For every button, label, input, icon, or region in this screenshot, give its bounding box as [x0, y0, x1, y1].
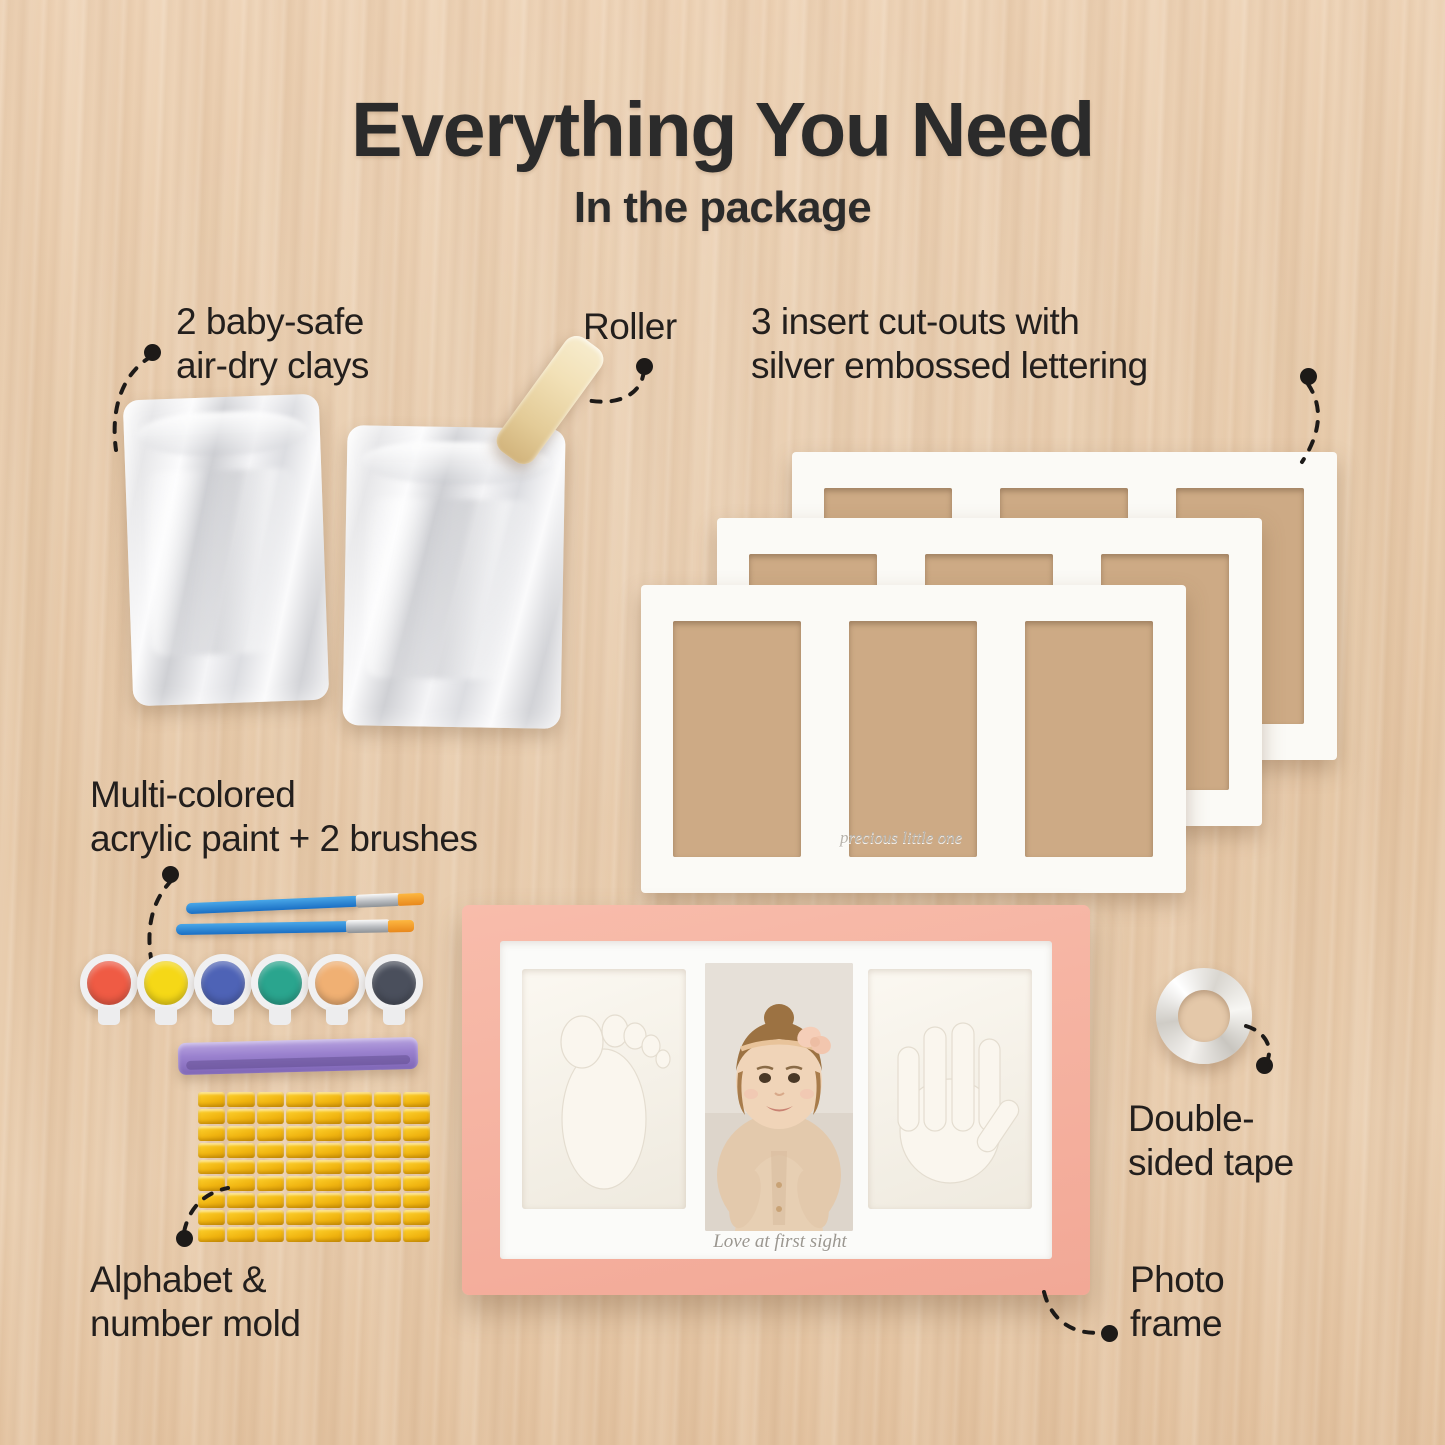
leader-dot-frame — [1101, 1325, 1118, 1342]
leader-dot-tape — [1256, 1057, 1273, 1074]
callout-paint: Multi-colored acrylic paint + 2 brushes — [90, 773, 478, 860]
baby-photo-illustration — [705, 963, 853, 1231]
page-title: Everything You Need — [0, 86, 1445, 175]
mold-press-stick — [178, 1037, 419, 1075]
paint-pot-blue — [194, 954, 252, 1012]
photo-frame: Love at first sight — [462, 905, 1090, 1295]
callout-frame: Photo frame — [1130, 1258, 1224, 1345]
page-subtitle: In the package — [0, 183, 1445, 233]
callout-mold: Alphabet & number mold — [90, 1258, 300, 1345]
double-sided-tape-roll — [1156, 968, 1252, 1064]
leader-dot-roller — [636, 358, 653, 375]
clay-pouch-2 — [342, 425, 565, 729]
paint-pot-yellow — [137, 954, 195, 1012]
callout-roller: Roller — [583, 305, 677, 349]
insert-window — [673, 621, 801, 857]
paint-pot-dark-slate — [365, 954, 423, 1012]
insert-window — [1025, 621, 1153, 857]
alphabet-number-mold — [198, 1092, 430, 1242]
leader-dot-mold — [176, 1230, 193, 1247]
callout-tape: Double- sided tape — [1128, 1097, 1294, 1184]
paint-pot-red — [80, 954, 138, 1012]
handprint-shape — [868, 969, 1032, 1209]
leader-dot-paint — [162, 866, 179, 883]
footprint-cast — [522, 969, 686, 1209]
infographic-canvas: Everything You Need In the package 2 bab… — [0, 0, 1445, 1445]
leader-dot-inserts — [1300, 368, 1317, 385]
handprint-cast — [868, 969, 1032, 1209]
callout-clays: 2 baby-safe air-dry clays — [176, 300, 369, 387]
leader-dot-clays — [144, 344, 161, 361]
clay-pouch-1 — [123, 394, 330, 707]
paint-pot-peach — [308, 954, 366, 1012]
frame-caption: Love at first sight — [650, 1231, 910, 1253]
frame-mount: Love at first sight — [500, 941, 1052, 1259]
baby-photo — [705, 963, 853, 1231]
insert-emboss-precious-little-one: precious little one — [840, 828, 962, 848]
footprint-shape — [522, 969, 686, 1209]
insert-window — [849, 621, 977, 857]
callout-inserts: 3 insert cut-outs with silver embossed l… — [751, 300, 1148, 387]
paint-pot-teal — [251, 954, 309, 1012]
